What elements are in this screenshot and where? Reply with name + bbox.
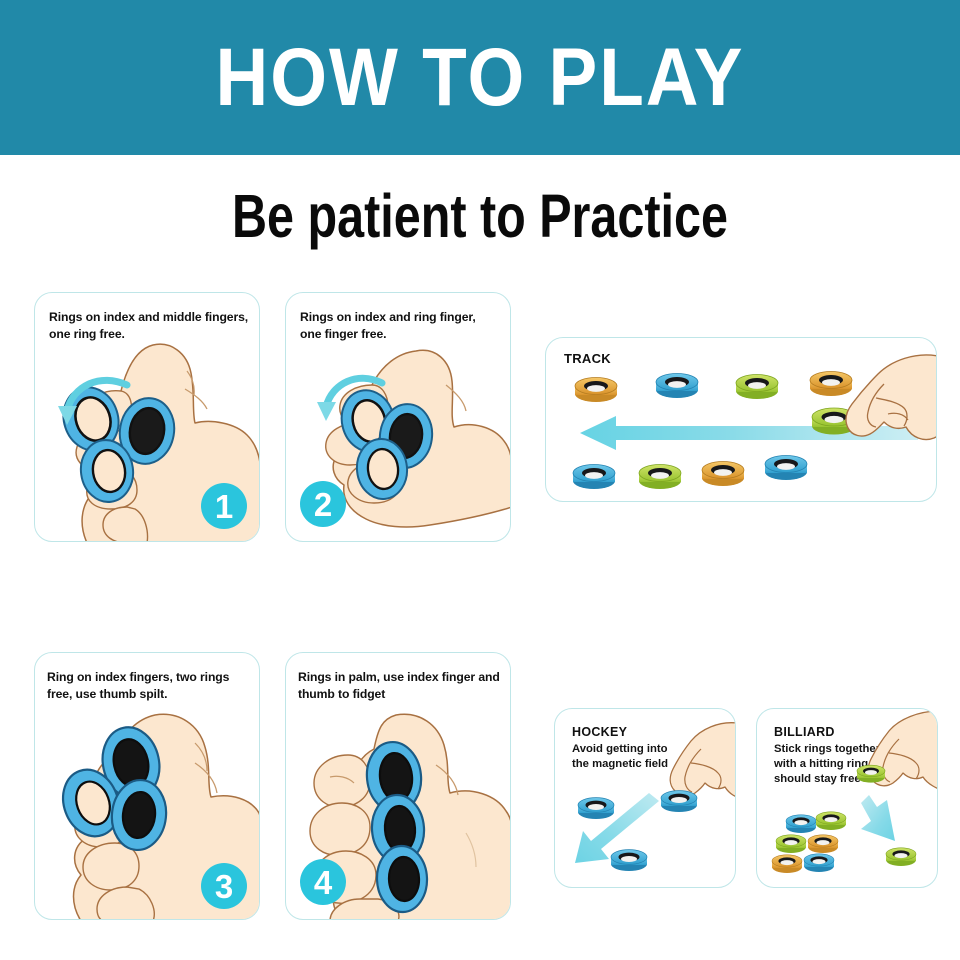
game-panel-track: TRACK [545, 337, 937, 502]
game-panel-hockey: HOCKEY Avoid getting into the magnetic f… [554, 708, 736, 888]
track-illustration [546, 338, 937, 502]
step-panel-2: Rings on index and ring finger, one fing… [285, 292, 511, 542]
step-panel-3: Ring on index fingers, two rings free, u… [34, 652, 260, 920]
hockey-illustration [555, 709, 736, 888]
billiard-illustration [757, 709, 938, 888]
game-panel-billiard: BILLIARD Stick rings together with a hit… [756, 708, 938, 888]
page-title: HOW TO PLAY [215, 37, 744, 119]
step-badge-2: 2 [300, 481, 346, 527]
step-badge-4: 4 [300, 859, 346, 905]
subtitle: Be patient to Practice [14, 186, 945, 247]
step-badge-3: 3 [201, 863, 247, 909]
header-band: HOW TO PLAY [0, 0, 960, 155]
step-badge-1: 1 [201, 483, 247, 529]
step-panel-4: Rings in palm, use index finger and thum… [285, 652, 511, 920]
step-panel-1: Rings on index and middle fingers, one r… [34, 292, 260, 542]
